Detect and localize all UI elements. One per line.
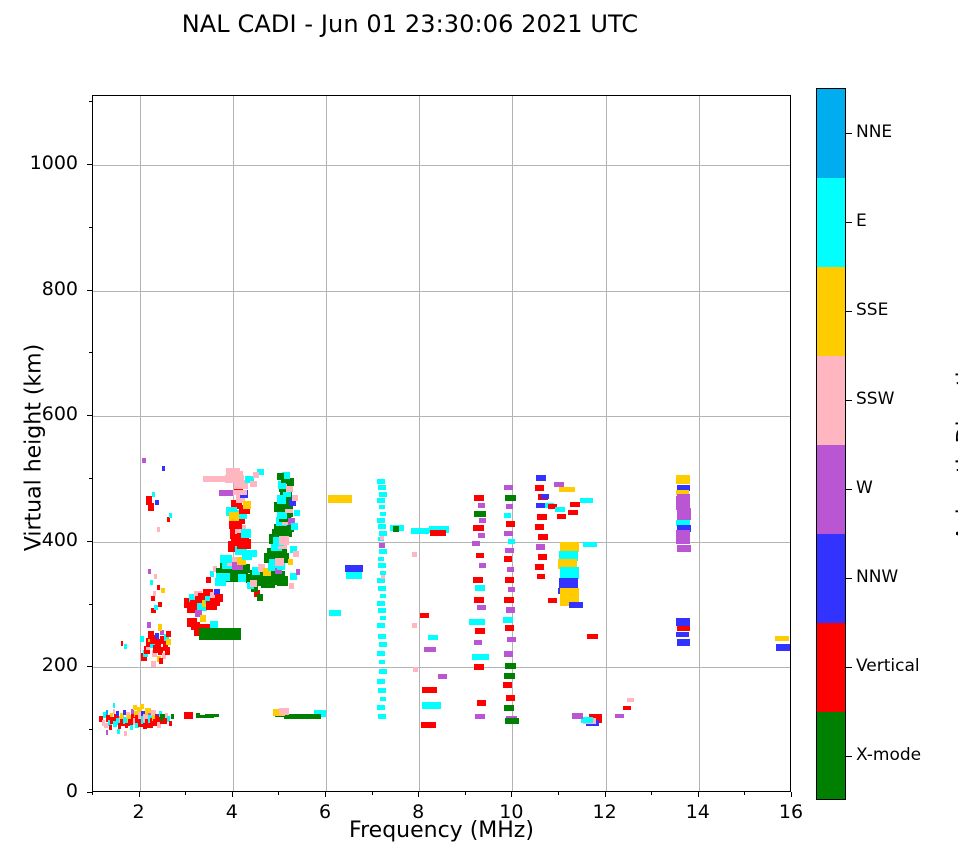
colorbar	[816, 88, 846, 800]
echo-mark	[142, 458, 146, 463]
echo-mark	[152, 492, 155, 497]
gridline-vertical	[512, 96, 513, 791]
echo-mark	[155, 500, 159, 505]
y-axis-minor-tick	[89, 352, 92, 353]
echo-mark	[162, 466, 165, 471]
echo-mark	[257, 594, 264, 601]
x-axis-minor-tick	[278, 792, 279, 795]
echo-mark	[507, 567, 514, 572]
echo-mark	[475, 628, 485, 634]
echo-mark	[548, 598, 556, 603]
echo-mark	[205, 714, 219, 717]
colorbar-label-nne: NNE	[856, 122, 892, 142]
echo-mark	[294, 510, 300, 516]
echo-mark	[117, 729, 120, 734]
echo-mark	[377, 479, 384, 484]
y-axis-tick	[87, 290, 92, 291]
echo-mark	[506, 607, 515, 613]
gridline-horizontal	[93, 165, 790, 166]
colorbar-label-nnw: NNW	[856, 567, 898, 587]
echo-mark	[253, 472, 259, 478]
echo-mark	[379, 549, 386, 554]
colorbar-label-sse: SSE	[856, 300, 888, 320]
echo-mark	[504, 531, 512, 536]
echo-mark	[536, 475, 546, 481]
echo-mark	[154, 605, 157, 610]
y-axis-tick	[87, 415, 92, 416]
colorbar-title: Azimuth Direction	[954, 303, 958, 583]
x-axis-minor-tick	[744, 792, 745, 795]
echo-mark	[476, 553, 483, 558]
echo-mark	[380, 536, 385, 540]
echo-mark	[215, 578, 226, 586]
gridline-vertical	[419, 96, 420, 791]
echo-mark	[378, 557, 385, 561]
echo-mark	[275, 558, 283, 566]
echo-mark	[220, 555, 232, 563]
echo-mark	[277, 576, 288, 586]
echo-mark	[430, 530, 446, 536]
colorbar-segment-ssw	[817, 356, 845, 446]
colorbar-segment-nne	[817, 89, 845, 179]
echo-mark	[477, 700, 486, 706]
gridline-vertical	[699, 96, 700, 791]
echo-mark	[250, 481, 257, 487]
echo-mark	[536, 544, 545, 550]
echo-mark	[504, 651, 513, 657]
echo-mark	[292, 495, 298, 501]
echo-mark	[474, 495, 484, 501]
echo-mark	[538, 554, 547, 560]
echo-mark	[378, 524, 385, 529]
x-axis-minor-tick	[92, 792, 93, 795]
echo-mark	[277, 473, 284, 480]
x-axis-tick	[698, 792, 699, 797]
echo-mark	[412, 552, 417, 557]
echo-mark	[474, 640, 482, 645]
echo-mark	[508, 587, 515, 592]
echo-mark	[378, 586, 385, 591]
y-axis-tick-label: 1000	[8, 152, 78, 174]
echo-mark	[412, 623, 417, 628]
echo-mark	[215, 594, 223, 602]
echo-mark	[296, 569, 301, 575]
echo-mark	[627, 698, 634, 702]
echo-mark	[165, 647, 171, 655]
colorbar-tick	[846, 311, 852, 313]
echo-mark	[157, 585, 160, 590]
echo-mark	[535, 485, 544, 491]
echo-mark	[378, 714, 385, 719]
echo-mark	[504, 556, 512, 562]
colorbar-segment-nnw	[817, 534, 845, 624]
echo-mark	[381, 575, 386, 579]
gridline-vertical	[606, 96, 607, 791]
echo-mark	[422, 687, 438, 693]
colorbar-label-x-mode: X-mode	[856, 745, 921, 765]
echo-mark	[169, 721, 172, 726]
echo-mark	[166, 631, 170, 637]
echo-mark	[377, 623, 384, 628]
gridline-horizontal	[93, 416, 790, 417]
echo-mark	[148, 503, 154, 511]
echo-mark	[380, 616, 387, 620]
echo-mark	[346, 572, 363, 579]
echo-mark	[380, 697, 387, 701]
echo-mark	[250, 580, 257, 587]
echo-mark	[615, 714, 623, 718]
echo-mark	[535, 524, 544, 530]
echo-mark	[210, 621, 218, 628]
colorbar-segment-sse	[817, 267, 845, 357]
echo-mark	[159, 658, 163, 664]
x-axis-tick	[791, 792, 792, 797]
echo-mark	[379, 642, 386, 647]
gridline-horizontal	[93, 291, 790, 292]
echo-mark	[377, 601, 384, 606]
echo-mark	[422, 702, 441, 709]
echo-mark	[380, 512, 387, 516]
echo-mark	[161, 588, 164, 593]
y-axis-tick-label: 0	[8, 780, 78, 802]
colorbar-label-vertical: Vertical	[856, 656, 920, 676]
echo-mark	[106, 730, 109, 735]
x-axis-minor-tick	[651, 792, 652, 795]
gridline-horizontal	[93, 667, 790, 668]
echo-mark	[379, 660, 386, 664]
echo-mark	[124, 731, 127, 736]
echo-mark	[121, 641, 123, 646]
echo-mark	[229, 512, 239, 521]
echo-mark	[184, 712, 192, 719]
echo-mark	[148, 569, 151, 574]
echo-mark	[379, 531, 386, 536]
echo-mark	[380, 594, 387, 598]
echo-mark	[503, 682, 512, 688]
echo-mark	[505, 495, 515, 501]
echo-mark	[411, 528, 430, 534]
echo-mark	[421, 722, 437, 728]
echo-mark	[505, 718, 519, 724]
x-axis-minor-tick	[465, 792, 466, 795]
echo-mark	[158, 624, 163, 631]
echo-mark	[506, 695, 515, 701]
echo-mark	[379, 543, 385, 548]
echo-mark	[478, 533, 485, 538]
echo-mark	[572, 713, 583, 719]
echo-mark	[130, 725, 133, 730]
colorbar-tick	[846, 489, 852, 491]
echo-mark	[505, 663, 515, 669]
gridline-vertical	[140, 96, 141, 791]
echo-mark	[293, 551, 299, 557]
colorbar-label-w: W	[856, 478, 873, 498]
echo-mark	[677, 626, 690, 631]
echo-mark	[166, 639, 170, 645]
echo-mark	[475, 585, 485, 591]
echo-mark	[555, 507, 565, 512]
echo-mark	[157, 527, 160, 532]
echo-mark	[475, 714, 485, 719]
echo-mark	[377, 651, 384, 656]
x-axis-tick	[232, 792, 233, 797]
echo-mark	[541, 494, 549, 499]
echo-mark	[124, 644, 126, 649]
y-axis-tick	[87, 164, 92, 165]
y-axis-tick	[87, 541, 92, 542]
echo-mark	[158, 602, 161, 607]
echo-mark	[479, 563, 486, 568]
x-axis-tick	[418, 792, 419, 797]
echo-mark	[200, 615, 207, 622]
echo-mark	[505, 625, 514, 631]
x-axis-tick-label: 10	[481, 801, 541, 823]
echo-mark	[479, 518, 486, 523]
echo-mark	[469, 619, 485, 625]
echo-mark	[474, 664, 483, 670]
echo-mark	[508, 539, 515, 544]
x-axis-tick	[511, 792, 512, 797]
echo-mark	[505, 548, 513, 553]
echo-mark	[676, 475, 690, 484]
echo-mark	[504, 597, 514, 603]
echo-mark	[284, 714, 321, 719]
echo-mark	[504, 485, 512, 490]
echo-mark	[153, 591, 156, 596]
colorbar-tick	[846, 756, 852, 758]
echo-mark	[377, 518, 384, 523]
y-axis-minor-tick	[89, 729, 92, 730]
y-axis-tick-label: 400	[8, 529, 78, 551]
echo-mark	[775, 636, 789, 641]
echo-mark	[291, 523, 298, 530]
echo-mark	[140, 636, 144, 642]
echo-mark	[507, 637, 515, 642]
echo-mark	[568, 510, 577, 515]
gridline-vertical	[326, 96, 327, 791]
echo-mark	[677, 545, 691, 552]
echo-mark	[329, 610, 341, 616]
echo-mark	[413, 667, 418, 672]
echo-mark	[538, 534, 547, 540]
echo-mark	[150, 580, 153, 585]
colorbar-segment-w	[817, 445, 845, 535]
colorbar-label-ssw: SSW	[856, 389, 894, 409]
colorbar-tick	[846, 667, 852, 669]
x-axis-minor-tick	[185, 792, 186, 795]
echo-mark	[537, 574, 545, 579]
x-axis-tick	[139, 792, 140, 797]
y-axis-tick-label: 200	[8, 654, 78, 676]
echo-mark	[623, 706, 631, 710]
x-axis-minor-tick	[558, 792, 559, 795]
x-axis-tick-label: 4	[202, 801, 262, 823]
echo-mark	[473, 577, 483, 583]
colorbar-tick	[846, 222, 852, 224]
echo-mark	[474, 511, 486, 517]
echo-mark	[559, 578, 578, 588]
colorbar-tick	[846, 578, 852, 580]
echo-mark	[424, 647, 436, 652]
echo-mark	[378, 634, 385, 639]
echo-mark	[243, 501, 251, 509]
echo-mark	[473, 525, 484, 531]
echo-mark	[377, 679, 384, 684]
echo-mark	[536, 503, 544, 508]
echo-mark	[677, 639, 690, 646]
colorbar-segment-e	[817, 178, 845, 268]
echo-mark	[503, 617, 513, 623]
echo-mark	[171, 714, 174, 719]
colorbar-tick	[846, 133, 852, 135]
echo-mark	[345, 565, 364, 572]
echo-mark	[393, 526, 399, 532]
y-axis-minor-tick	[89, 478, 92, 479]
echo-mark	[537, 514, 547, 520]
echo-mark	[474, 597, 483, 603]
echo-mark	[289, 583, 295, 589]
echo-mark	[504, 673, 515, 679]
echo-mark	[203, 476, 236, 482]
echo-mark	[428, 635, 438, 640]
colorbar-segment-x-mode	[817, 712, 845, 800]
echo-mark	[215, 628, 241, 640]
y-axis-tick-label: 600	[8, 403, 78, 425]
echo-mark	[587, 634, 597, 639]
echo-mark	[478, 503, 485, 508]
x-axis-tick	[325, 792, 326, 797]
echo-mark	[776, 644, 790, 651]
echo-mark	[378, 485, 385, 490]
echo-mark	[570, 502, 580, 507]
echo-mark	[377, 498, 384, 503]
echo-mark	[279, 536, 288, 545]
y-axis-tick-label: 800	[8, 278, 78, 300]
x-axis-tick-label: 14	[668, 801, 728, 823]
colorbar-segment-vertical	[817, 623, 845, 713]
echo-mark	[106, 710, 109, 715]
echo-mark	[147, 622, 151, 628]
y-axis-tick	[87, 666, 92, 667]
echo-mark	[226, 468, 240, 475]
chart-title: NAL CADI - Jun 01 23:30:06 2021 UTC	[0, 10, 820, 38]
plot-area	[92, 95, 791, 792]
echo-mark	[583, 542, 597, 547]
echo-mark	[377, 578, 384, 583]
y-axis-minor-tick	[89, 604, 92, 605]
y-axis-tick	[87, 792, 92, 793]
echo-mark	[377, 705, 384, 710]
echo-mark	[113, 703, 116, 708]
echo-mark	[379, 669, 386, 674]
echo-mark	[557, 514, 566, 519]
echo-mark	[169, 513, 172, 518]
echo-mark	[378, 608, 385, 613]
echo-mark	[438, 674, 447, 679]
echo-mark	[241, 529, 251, 538]
y-axis-minor-tick	[89, 227, 92, 228]
x-axis-tick-label: 12	[575, 801, 635, 823]
echo-mark	[133, 705, 136, 710]
echo-mark	[580, 498, 593, 503]
x-axis-minor-tick	[372, 792, 373, 795]
echo-mark	[420, 613, 429, 618]
y-axis-minor-tick	[89, 101, 92, 102]
echo-mark	[559, 487, 575, 492]
echo-mark	[505, 577, 513, 583]
echo-mark	[504, 513, 511, 518]
echo-mark	[504, 705, 514, 711]
echo-mark	[379, 505, 386, 509]
echo-mark	[472, 654, 489, 660]
echo-mark	[535, 564, 544, 570]
echo-mark	[378, 563, 385, 568]
echo-mark	[151, 661, 155, 667]
x-axis-tick-label: 2	[109, 801, 169, 823]
colorbar-tick	[846, 400, 852, 402]
echo-mark	[506, 504, 513, 509]
echo-mark	[506, 521, 515, 527]
echo-mark	[677, 508, 691, 520]
gridline-vertical	[233, 96, 234, 791]
echo-mark	[477, 605, 485, 610]
echo-mark	[140, 704, 144, 709]
echo-mark	[219, 490, 233, 496]
echo-mark	[472, 541, 480, 546]
echo-mark	[151, 596, 155, 601]
echo-mark	[379, 492, 386, 497]
echo-mark	[279, 708, 289, 715]
echo-mark	[242, 553, 252, 560]
echo-mark	[328, 495, 351, 503]
plot-canvas	[93, 96, 790, 791]
x-axis-tick-label: 8	[388, 801, 448, 823]
echo-mark	[676, 530, 690, 544]
echo-mark	[154, 574, 157, 579]
echo-mark	[569, 602, 583, 608]
x-axis-tick	[605, 792, 606, 797]
echo-mark	[676, 632, 689, 637]
echo-mark	[288, 559, 294, 565]
x-axis-tick-label: 6	[295, 801, 355, 823]
echo-mark	[378, 688, 385, 693]
x-axis-tick-label: 16	[761, 801, 821, 823]
colorbar-label-e: E	[856, 211, 867, 231]
